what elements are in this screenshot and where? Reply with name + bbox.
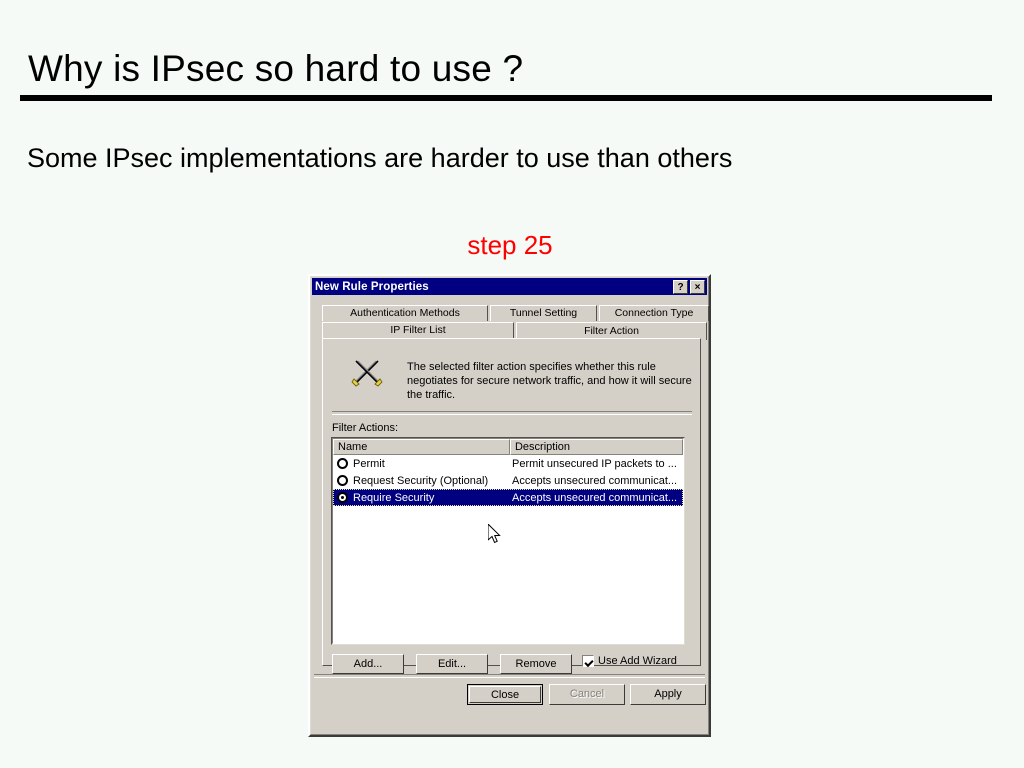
titlebar-button-group: ? × [673, 280, 705, 294]
row-name-text: Permit [353, 458, 385, 470]
row-name-cell: Require Security [333, 492, 510, 504]
tab-row-top: Authentication Methods Tunnel Setting Co… [322, 305, 711, 321]
dialog-titlebar[interactable]: New Rule Properties ? × [312, 278, 707, 295]
close-button-label: Close [469, 686, 541, 703]
column-header-name[interactable]: Name [333, 439, 510, 455]
filter-actions-listview[interactable]: Name Description Permit Permit unsecured… [332, 438, 684, 644]
add-button[interactable]: Add... [332, 654, 404, 674]
apply-button[interactable]: Apply [630, 684, 706, 705]
row-name-text: Request Security (Optional) [353, 475, 488, 487]
filter-action-panel: The selected filter action specifies whe… [322, 338, 701, 666]
tab-connection-type[interactable]: Connection Type [599, 305, 709, 321]
cancel-button: Cancel [549, 684, 625, 705]
close-button[interactable]: Close [467, 684, 543, 705]
row-description-cell: Accepts unsecured communicat... [510, 475, 683, 487]
row-name-text: Require Security [353, 492, 434, 504]
remove-button[interactable]: Remove [500, 654, 572, 674]
footer-separator [314, 674, 705, 678]
tab-tunnel-setting[interactable]: Tunnel Setting [490, 305, 597, 321]
close-icon[interactable]: × [690, 280, 705, 294]
row-name-cell: Request Security (Optional) [333, 475, 510, 487]
table-row[interactable]: Require Security Accepts unsecured commu… [333, 489, 683, 506]
filter-action-description: The selected filter action specifies whe… [407, 360, 695, 402]
checkbox-icon[interactable] [582, 655, 594, 667]
listview-header: Name Description [333, 439, 683, 455]
slide-subtitle: Some IPsec implementations are harder to… [27, 143, 732, 174]
radio-button-icon[interactable] [337, 492, 348, 503]
crossed-swords-icon [350, 356, 384, 390]
radio-button-icon[interactable] [337, 475, 348, 486]
step-label: step 25 [0, 230, 1024, 261]
page-title: Why is IPsec so hard to use ? [28, 48, 523, 90]
table-row[interactable]: Request Security (Optional) Accepts unse… [333, 472, 683, 489]
new-rule-properties-dialog: New Rule Properties ? × Authentication M… [308, 274, 711, 737]
panel-separator [332, 411, 692, 415]
row-description-cell: Permit unsecured IP packets to ... [510, 458, 683, 470]
use-add-wizard-label: Use Add Wizard [598, 655, 677, 667]
help-icon[interactable]: ? [673, 280, 688, 294]
filter-actions-label: Filter Actions: [332, 422, 398, 434]
row-name-cell: Permit [333, 458, 510, 470]
dialog-title-text: New Rule Properties [315, 281, 429, 293]
step-label-text: step 25 [467, 230, 552, 260]
column-header-description[interactable]: Description [510, 439, 683, 455]
table-row[interactable]: Permit Permit unsecured IP packets to ..… [333, 455, 683, 472]
row-description-cell: Accepts unsecured communicat... [510, 492, 683, 504]
use-add-wizard-checkbox[interactable]: Use Add Wizard [582, 655, 677, 667]
edit-button[interactable]: Edit... [416, 654, 488, 674]
radio-button-icon[interactable] [337, 458, 348, 469]
tab-authentication-methods[interactable]: Authentication Methods [322, 305, 488, 321]
title-underline-rule [20, 95, 992, 101]
tab-ip-filter-list[interactable]: IP Filter List [322, 322, 514, 338]
